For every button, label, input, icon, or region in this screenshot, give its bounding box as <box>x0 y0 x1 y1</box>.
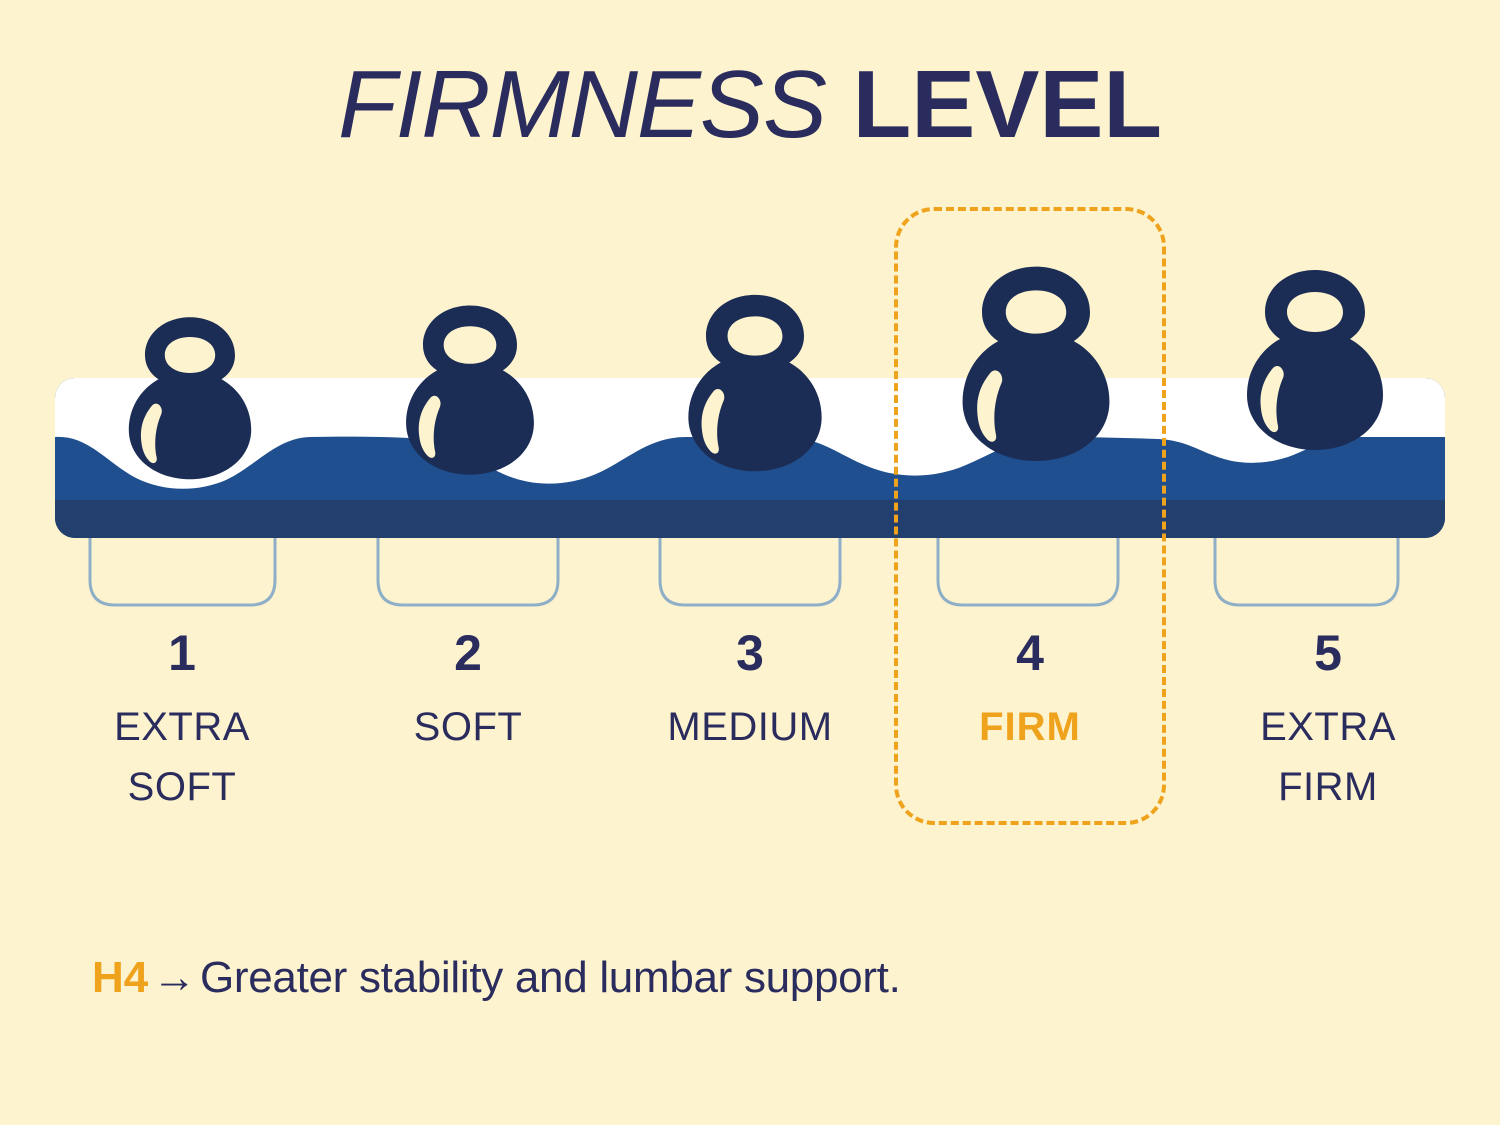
scale-label-1: EXTRA SOFT <box>32 697 332 817</box>
caption-tag: H4 <box>92 953 148 1002</box>
scale-number-4: 4 <box>880 625 1180 681</box>
scale-label-3-line1: MEDIUM <box>600 697 900 757</box>
scale-number-3: 3 <box>600 625 900 681</box>
scale-label-4-line1: FIRM <box>880 697 1180 757</box>
scale-number-5: 5 <box>1178 625 1478 681</box>
title-firmness: FIRMNESS <box>338 51 826 158</box>
scale-item-2[interactable]: 2 SOFT <box>318 625 618 757</box>
scale-label-2: SOFT <box>318 697 618 757</box>
mattress-legs <box>90 532 1398 605</box>
page-title: FIRMNESS LEVEL <box>0 55 1500 155</box>
kettlebell-icon-2 <box>406 306 534 475</box>
scale-item-5[interactable]: 5 EXTRA FIRM <box>1178 625 1478 817</box>
scale-label-5: EXTRA FIRM <box>1178 697 1478 817</box>
caption-text: Greater stability and lumbar support. <box>200 953 901 1002</box>
scale-label-1-line1: EXTRA <box>32 697 332 757</box>
scale-label-1-line2: SOFT <box>32 757 332 817</box>
mattress-top-layer <box>55 378 1445 489</box>
scale-label-5-line1: EXTRA <box>1178 697 1478 757</box>
scale-label-3: MEDIUM <box>600 697 900 757</box>
kettlebell-icon-1 <box>129 317 251 479</box>
scale-label-5-line2: FIRM <box>1178 757 1478 817</box>
title-level: LEVEL <box>853 51 1162 158</box>
scale-item-3[interactable]: 3 MEDIUM <box>600 625 900 757</box>
kettlebell-icon-5 <box>1247 270 1383 450</box>
scale-item-4[interactable]: 4 FIRM <box>880 625 1180 757</box>
scale-number-2: 2 <box>318 625 618 681</box>
kettlebell-icon-3 <box>688 295 821 471</box>
scale-number-1: 1 <box>32 625 332 681</box>
footer-caption: H4→Greater stability and lumbar support. <box>92 948 901 1008</box>
scale-label-2-line1: SOFT <box>318 697 618 757</box>
mattress-mid-layer <box>55 429 1445 500</box>
scale-label-4: FIRM <box>880 697 1180 757</box>
infographic-root: FIRMNESS LEVEL <box>0 0 1500 1125</box>
caption-arrow-icon: → <box>148 953 200 1002</box>
scale-item-1[interactable]: 1 EXTRA SOFT <box>32 625 332 817</box>
mattress-body <box>55 378 1445 538</box>
